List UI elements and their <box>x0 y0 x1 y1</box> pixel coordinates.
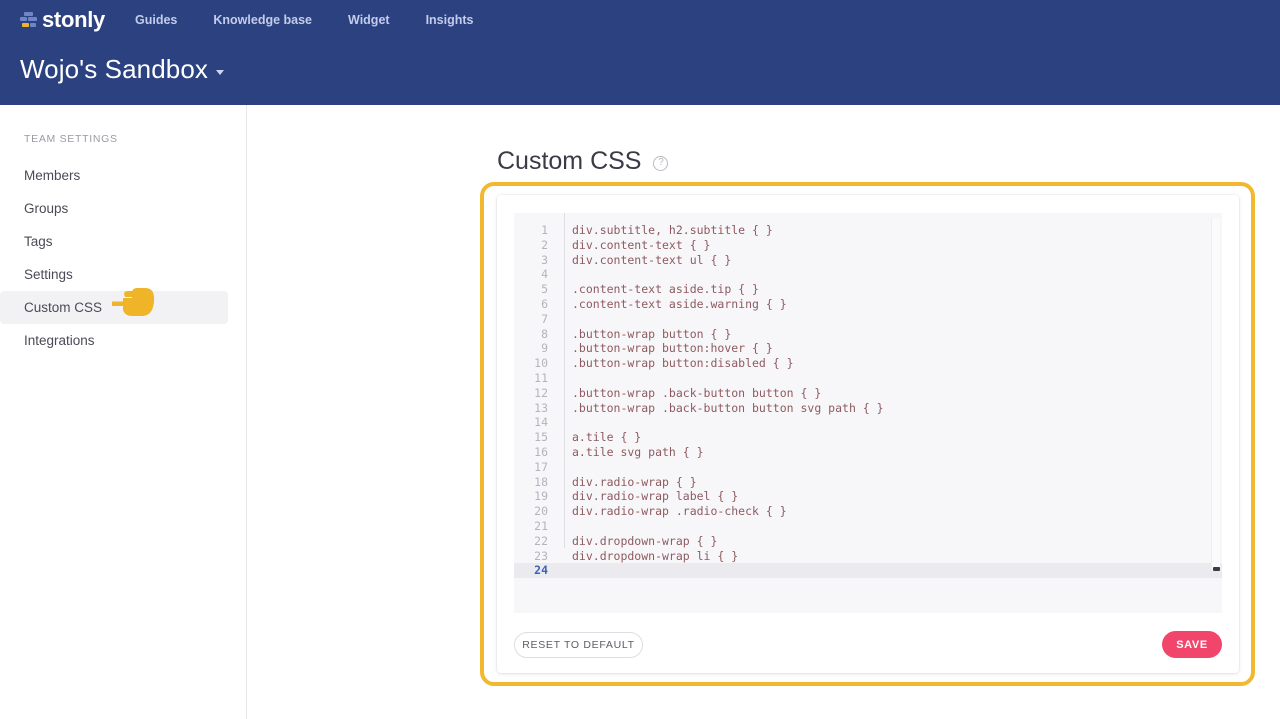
code-text <box>560 371 572 386</box>
line-number: 16 <box>514 445 560 460</box>
code-line[interactable]: 14 <box>514 415 1222 430</box>
top-navigation-bar: stonly Guides Knowledge base Widget Insi… <box>0 0 1280 105</box>
sidebar-item-groups[interactable]: Groups <box>0 192 228 225</box>
chevron-down-icon[interactable] <box>216 70 224 75</box>
workspace-selector[interactable]: Wojo's Sandbox <box>20 55 224 84</box>
code-line[interactable]: 16a.tile svg path { } <box>514 445 1222 460</box>
code-line[interactable]: 13.button-wrap .back-button button svg p… <box>514 401 1222 416</box>
nav-link-insights[interactable]: Insights <box>426 13 474 27</box>
code-line[interactable]: 21 <box>514 519 1222 534</box>
code-text: div.content-text ul { } <box>560 253 731 268</box>
code-line[interactable]: 23div.dropdown-wrap li { } <box>514 549 1222 564</box>
nav-row: stonly Guides Knowledge base Widget Insi… <box>0 0 1280 40</box>
code-line[interactable]: 22div.dropdown-wrap { } <box>514 534 1222 549</box>
brand-name: stonly <box>42 9 105 31</box>
code-text: div.radio-wrap label { } <box>560 489 738 504</box>
code-line[interactable]: 19div.radio-wrap label { } <box>514 489 1222 504</box>
line-number: 3 <box>514 253 560 268</box>
code-text: div.content-text { } <box>560 238 710 253</box>
code-line[interactable]: 8.button-wrap button { } <box>514 327 1222 342</box>
code-text: .button-wrap button { } <box>560 327 731 342</box>
sidebar-item-members[interactable]: Members <box>0 159 228 192</box>
code-line[interactable]: 3div.content-text ul { } <box>514 253 1222 268</box>
code-line[interactable]: 15a.tile { } <box>514 430 1222 445</box>
line-number: 9 <box>514 341 560 356</box>
line-number: 23 <box>514 549 560 564</box>
code-text: a.tile { } <box>560 430 641 445</box>
save-button[interactable]: SAVE <box>1162 631 1222 658</box>
code-text: div.dropdown-wrap li { } <box>560 549 738 564</box>
code-text: .button-wrap button:disabled { } <box>560 356 794 371</box>
question-mark-circle-icon[interactable]: ? <box>653 156 668 171</box>
code-line[interactable]: 10.button-wrap button:disabled { } <box>514 356 1222 371</box>
code-lines[interactable]: 1div.subtitle, h2.subtitle { }2div.conte… <box>514 223 1222 578</box>
line-number: 19 <box>514 489 560 504</box>
editor-scrollbar[interactable] <box>1211 219 1220 571</box>
code-line[interactable]: 1div.subtitle, h2.subtitle { } <box>514 223 1222 238</box>
line-number: 17 <box>514 460 560 475</box>
code-line[interactable]: 17 <box>514 460 1222 475</box>
line-number: 11 <box>514 371 560 386</box>
sidebar-item-integrations[interactable]: Integrations <box>0 324 228 357</box>
code-line[interactable]: 20div.radio-wrap .radio-check { } <box>514 504 1222 519</box>
sidebar: TEAM SETTINGS Members Groups Tags Settin… <box>0 105 247 719</box>
code-line[interactable]: 24 <box>514 563 1222 578</box>
code-line[interactable]: 11 <box>514 371 1222 386</box>
code-text <box>560 267 572 282</box>
code-text: div.radio-wrap .radio-check { } <box>560 504 787 519</box>
code-line[interactable]: 5.content-text aside.tip { } <box>514 282 1222 297</box>
line-number: 18 <box>514 475 560 490</box>
code-text: .content-text aside.warning { } <box>560 297 787 312</box>
line-number: 5 <box>514 282 560 297</box>
line-number: 12 <box>514 386 560 401</box>
line-number: 10 <box>514 356 560 371</box>
code-text: .button-wrap .back-button button { } <box>560 386 821 401</box>
css-code-editor[interactable]: 1div.subtitle, h2.subtitle { }2div.conte… <box>514 213 1222 613</box>
line-number: 24 <box>514 563 560 578</box>
code-line[interactable]: 6.content-text aside.warning { } <box>514 297 1222 312</box>
sidebar-list: Members Groups Tags Settings Custom CSS … <box>0 159 246 357</box>
line-number: 1 <box>514 223 560 238</box>
code-text: a.tile svg path { } <box>560 445 704 460</box>
line-number: 22 <box>514 534 560 549</box>
line-number: 15 <box>514 430 560 445</box>
code-text <box>560 460 572 475</box>
page-title: Custom CSS <box>497 147 641 176</box>
code-text: .button-wrap .back-button button svg pat… <box>560 401 884 416</box>
editor-scrollbar-thumb[interactable] <box>1213 567 1220 571</box>
line-number: 13 <box>514 401 560 416</box>
line-number: 8 <box>514 327 560 342</box>
custom-css-card: 1div.subtitle, h2.subtitle { }2div.conte… <box>497 195 1239 673</box>
code-text: div.dropdown-wrap { } <box>560 534 717 549</box>
code-text: .button-wrap button:hover { } <box>560 341 773 356</box>
code-line[interactable]: 2div.content-text { } <box>514 238 1222 253</box>
line-number: 7 <box>514 312 560 327</box>
code-text <box>560 312 572 327</box>
code-text: div.subtitle, h2.subtitle { } <box>560 223 773 238</box>
nav-link-guides[interactable]: Guides <box>135 13 177 27</box>
workspace-title: Wojo's Sandbox <box>20 55 208 84</box>
nav-link-knowledge-base[interactable]: Knowledge base <box>213 13 312 27</box>
code-text <box>560 563 572 578</box>
page-header: Custom CSS ? <box>497 147 668 176</box>
line-number: 6 <box>514 297 560 312</box>
sidebar-item-tags[interactable]: Tags <box>0 225 228 258</box>
sidebar-item-custom-css[interactable]: Custom CSS <box>0 291 228 324</box>
code-line[interactable]: 9.button-wrap button:hover { } <box>514 341 1222 356</box>
reset-to-default-button[interactable]: RESET TO DEFAULT <box>514 632 643 658</box>
main-content: Custom CSS ? 1div.subtitle, h2.subtitle … <box>248 105 1280 719</box>
nav-links: Guides Knowledge base Widget Insights <box>135 13 473 27</box>
code-line[interactable]: 7 <box>514 312 1222 327</box>
code-text <box>560 415 572 430</box>
stacked-blocks-icon <box>20 12 37 29</box>
line-number: 20 <box>514 504 560 519</box>
code-line[interactable]: 18div.radio-wrap { } <box>514 475 1222 490</box>
line-number: 4 <box>514 267 560 282</box>
code-text: div.radio-wrap { } <box>560 475 697 490</box>
sidebar-heading: TEAM SETTINGS <box>24 133 118 145</box>
line-number: 14 <box>514 415 560 430</box>
nav-link-widget[interactable]: Widget <box>348 13 390 27</box>
code-line[interactable]: 12.button-wrap .back-button button { } <box>514 386 1222 401</box>
code-text: .content-text aside.tip { } <box>560 282 759 297</box>
sidebar-item-settings[interactable]: Settings <box>0 258 228 291</box>
line-number: 2 <box>514 238 560 253</box>
code-line[interactable]: 4 <box>514 267 1222 282</box>
line-number: 21 <box>514 519 560 534</box>
brand-logo[interactable]: stonly <box>20 5 105 35</box>
code-text <box>560 519 572 534</box>
